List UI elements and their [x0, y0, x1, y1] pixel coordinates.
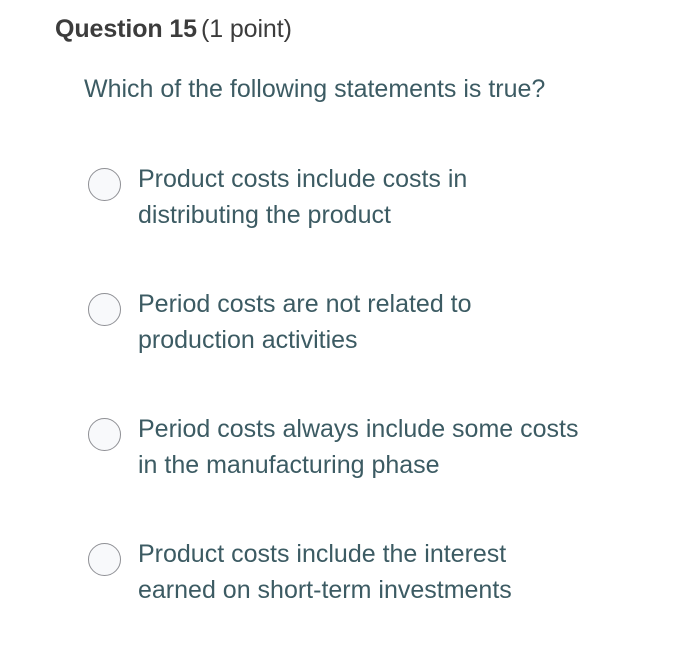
answer-option-label-d: Product costs include the interest earne… [138, 536, 683, 608]
answer-option-line: Product costs include costs in [138, 161, 683, 197]
answer-option-a[interactable]: Product costs include costs in distribut… [86, 155, 686, 280]
question-prompt: Which of the following statements is tru… [84, 72, 545, 106]
answer-option-b[interactable]: Period costs are not related to producti… [86, 280, 686, 405]
answer-option-line: Period costs are not related to [138, 286, 683, 322]
answer-options-list: Product costs include costs in distribut… [86, 155, 686, 655]
answer-option-line: in the manufacturing phase [138, 447, 683, 483]
question-number-label: Question 15 [55, 15, 197, 43]
radio-button-icon-a[interactable] [88, 168, 121, 201]
answer-option-label-a: Product costs include costs in distribut… [138, 161, 683, 233]
radio-button-icon-b[interactable] [88, 293, 121, 326]
answer-option-line: earned on short-term investments [138, 572, 683, 608]
question-page: Question 15(1 point) Which of the follow… [0, 0, 700, 669]
answer-option-c[interactable]: Period costs always include some costs i… [86, 405, 686, 530]
answer-option-line: production activities [138, 322, 683, 358]
answer-option-label-b: Period costs are not related to producti… [138, 286, 683, 358]
answer-option-line: Period costs always include some costs [138, 411, 683, 447]
question-header: Question 15(1 point) [55, 13, 292, 45]
radio-button-icon-c[interactable] [88, 418, 121, 451]
radio-button-icon-d[interactable] [88, 543, 121, 576]
question-points-label: (1 point) [201, 15, 292, 43]
answer-option-line: Product costs include the interest [138, 536, 683, 572]
answer-option-line: distributing the product [138, 197, 683, 233]
answer-option-label-c: Period costs always include some costs i… [138, 411, 683, 483]
answer-option-d[interactable]: Product costs include the interest earne… [86, 530, 686, 655]
